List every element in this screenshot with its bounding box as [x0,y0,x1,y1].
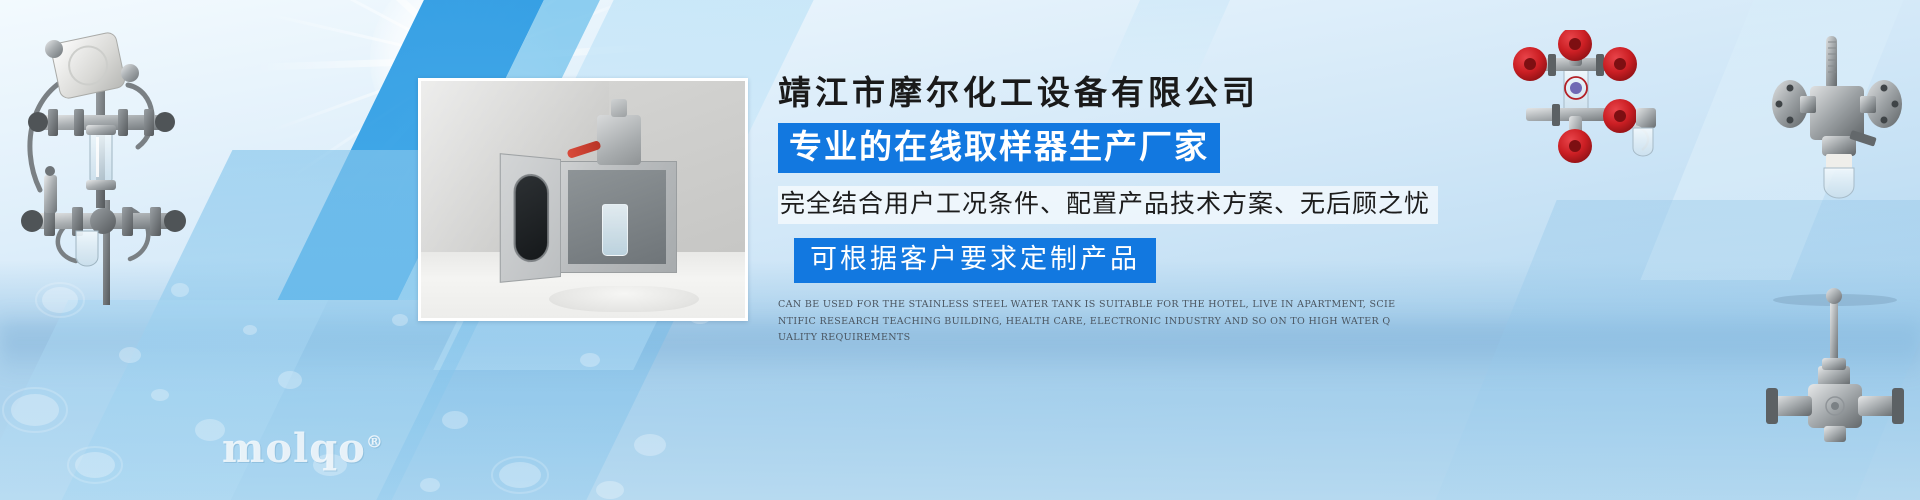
left-product-inline-sampler-image [10,25,210,305]
registered-mark-icon: ® [366,433,384,453]
english-line-1: CAN BE USED FOR THE STAINLESS STEEL WATE… [778,297,1378,314]
tagline-secondary: 可根据客户要求定制产品 [794,238,1156,283]
center-product-photo-frame [418,78,748,321]
tagline-primary: 专业的在线取样器生产厂家 [778,123,1220,173]
right-product-needle-valve-image [1760,270,1910,460]
watermark-text: molqo [222,425,366,472]
brand-watermark: molqo® [222,425,384,472]
english-line-2: NTIFIC RESEARCH TEACHING BUILDING, HEALT… [778,314,1378,331]
right-product-lever-valve-image [1760,30,1910,200]
banner-text-block: 靖江市摩尔化工设备有限公司 专业的在线取样器生产厂家 完全结合用户工况条件、配置… [778,72,1398,347]
english-line-3: UALITY REQUIREMENTS [778,330,1378,347]
company-title: 靖江市摩尔化工设备有限公司 [778,72,1398,113]
promo-banner: 靖江市摩尔化工设备有限公司 专业的在线取样器生产厂家 完全结合用户工况条件、配置… [0,0,1920,500]
center-product-photo [421,81,745,318]
description-line: 完全结合用户工况条件、配置产品技术方案、无后顾之忧 [778,186,1438,224]
right-product-cross-sampler-image [1500,30,1680,180]
english-description-block: CAN BE USED FOR THE STAINLESS STEEL WATE… [778,297,1378,347]
